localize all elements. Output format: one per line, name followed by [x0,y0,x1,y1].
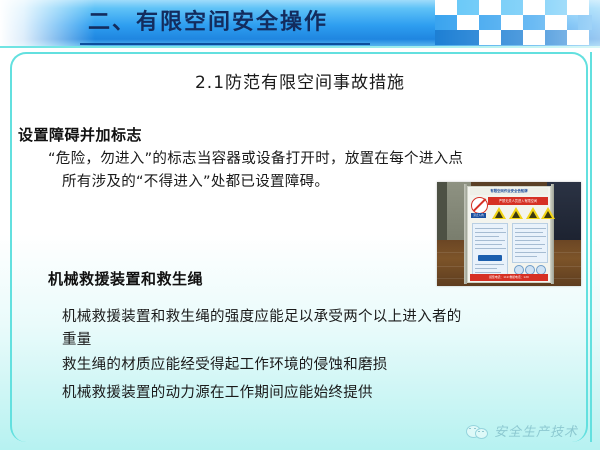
no-entry-icon [471,197,488,214]
slide-header: 二、有限空间安全操作 [0,0,600,46]
photo-text-block-left [472,223,508,275]
photo-prohibit-caption: 禁止入内 [471,213,486,218]
section-2-line-3: 救生绳的材质应能经受得起工作环境的侵蚀和磨损 [62,353,388,374]
header-left-fade [0,0,95,46]
photo-doorway [437,182,447,244]
section-2-line-1: 机械救援装置和救生绳的强度应能足以承受两个以上进入者的 [62,305,462,326]
photo-board-red-banner: 严禁无关人员进入有限空间 [488,197,548,205]
photo-board-title: 有限空间作业安全告知牌 [470,188,548,195]
watermark-label: 安全生产技术 [494,421,578,440]
page-title: 二、有限空间安全操作 [88,4,328,42]
section-1-line-2: 所有涉及的“不得进入”处都已设置障碍。 [62,170,329,191]
warning-triangle-icon [492,207,506,219]
header-checker-decoration [435,0,600,46]
photo-blue-label [478,255,502,261]
photo-notice-board: 有限空间作业安全告知牌 严禁无关人员进入有限空间 禁止入内 [467,186,551,283]
warning-triangle-icon [541,207,555,219]
section-heading-1: 设置障碍并加标志 [18,124,142,145]
section-2-line-2: 重量 [62,328,92,349]
section-1-line-1: “危险，勿进入”的标志当容器或设备打开时，放置在每个进入点 [48,147,463,168]
section-subtitle: 2.1防范有限空间事故措施 [0,68,600,93]
safety-board-photo: 有限空间作业安全告知牌 严禁无关人员进入有限空间 禁止入内 [437,182,581,286]
warning-triangle-icon [509,207,523,219]
watermark: 安全生产技术 [466,421,578,440]
wechat-icon [466,423,488,439]
photo-board-bottom-banner: 报警电话：119 救援电话：120 [470,274,548,281]
content-frame-right-edge [590,52,592,442]
title-underline [80,43,370,45]
photo-stand-right [551,184,554,284]
warning-triangle-icon [526,207,540,219]
slide-root: 二、有限空间安全操作 2.1防范有限空间事故措施 设置障碍并加标志 “危险，勿进… [0,0,600,450]
header-divider [0,46,600,48]
photo-text-block-right [512,223,548,263]
section-2-line-4: 机械救援装置的动力源在工作期间应能始终提供 [62,381,373,402]
section-heading-2: 机械救援装置和救生绳 [48,268,203,289]
